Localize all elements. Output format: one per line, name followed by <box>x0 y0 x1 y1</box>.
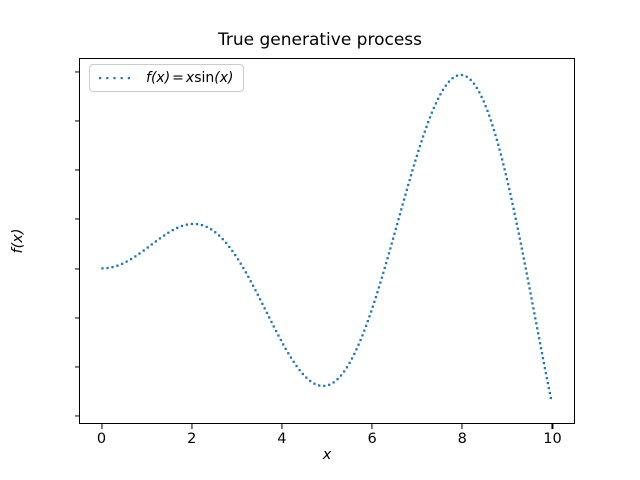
x-tick-label: 4 <box>277 431 286 447</box>
x-tick-label: 6 <box>367 431 376 447</box>
legend-box: f(x)=xsin(x) <box>89 64 244 92</box>
x-tick-label: 8 <box>458 431 467 447</box>
x-tick-mark <box>101 424 102 429</box>
x-tick-mark <box>281 424 282 429</box>
y-tick-mark <box>75 366 80 367</box>
y-tick-mark <box>75 170 80 171</box>
y-tick-mark <box>75 71 80 72</box>
y-tick-mark <box>75 219 80 220</box>
legend-entry-label: f(x)=xsin(x) <box>146 70 234 86</box>
y-tick-mark <box>75 121 80 122</box>
x-tick-mark <box>372 424 373 429</box>
figure-canvas: True generative process −6−4−202468 0246… <box>0 0 640 480</box>
x-tick-mark <box>462 424 463 429</box>
x-tick-mark <box>552 424 553 429</box>
y-tick-mark <box>75 268 80 269</box>
x-tick-label: 2 <box>187 431 196 447</box>
y-tick-mark <box>75 415 80 416</box>
plot-axes-area <box>79 58 575 424</box>
chart-title: True generative process <box>0 30 640 50</box>
series-curve-f-of-x <box>80 59 574 423</box>
y-tick-mark <box>75 317 80 318</box>
legend-line-sample-icon <box>98 73 134 83</box>
x-tick-label: 0 <box>97 431 106 447</box>
x-axis-label: x <box>323 447 332 463</box>
x-tick-mark <box>191 424 192 429</box>
x-tick-label: 10 <box>543 431 561 447</box>
y-axis-label: f(x) <box>10 228 26 253</box>
